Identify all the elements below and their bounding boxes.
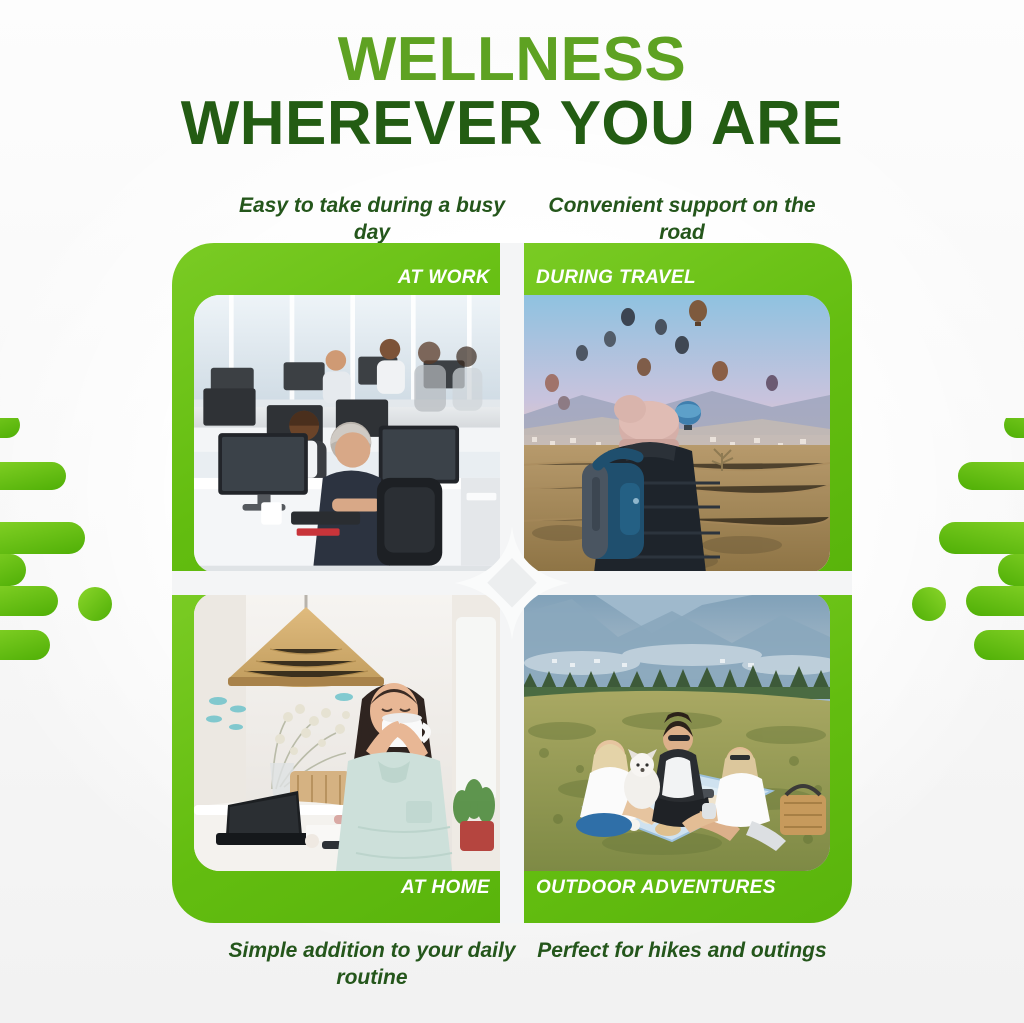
tile-label-outdoor-adventures: OUTDOOR ADVENTURES [536,871,776,905]
poster-stage: WELLNESS WHEREVER YOU ARE Easy to take d… [0,0,1024,1023]
abstract-bars-icon [0,418,130,668]
tile-outdoor-adventures[interactable]: OUTDOOR ADVENTURES [522,593,852,923]
tile-during-travel[interactable]: DURING TRAVEL [522,243,852,573]
tile-label-text: AT WORK [398,267,490,289]
decor-motif-right [894,418,1024,673]
tile-label-text: OUTDOOR ADVENTURES [536,877,776,899]
caption-at-home: Simple addition to your daily routine [222,938,522,992]
tile-label-text: AT HOME [401,877,490,899]
page-title: WELLNESS WHEREVER YOU ARE [0,30,1024,153]
tile-label-at-home: AT HOME [401,871,490,905]
center-ornament [455,526,569,640]
caption-at-work: Easy to take during a busy day [222,193,522,247]
diamond-star-icon [455,526,569,640]
decor-motif-left [0,418,130,673]
caption-during-travel: Convenient support on the road [532,193,832,247]
tile-label-text: DURING TRAVEL [536,267,696,289]
tile-label-at-work: AT WORK [398,261,490,295]
tile-at-home[interactable]: AT HOME [172,593,502,923]
abstract-bars-icon-mirrored [894,418,1024,668]
tile-label-during-travel: DURING TRAVEL [536,261,696,295]
tile-at-work[interactable]: AT WORK [172,243,502,573]
title-line-secondary: WHEREVER YOU ARE [0,94,1024,154]
caption-outdoor-adventures: Perfect for hikes and outings [532,938,832,965]
title-line-primary: WELLNESS [0,30,1024,90]
